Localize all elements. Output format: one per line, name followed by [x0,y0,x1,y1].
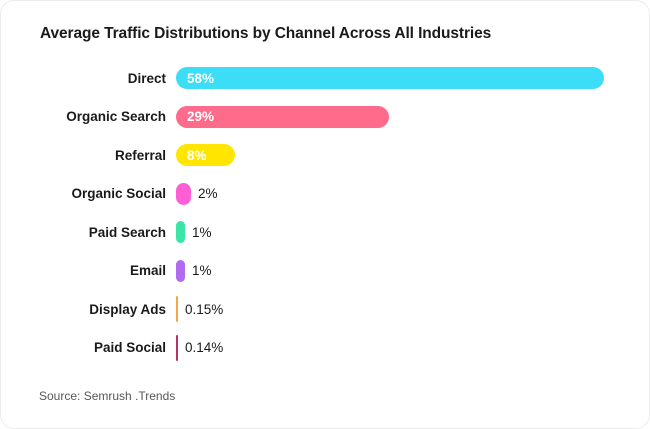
bar-category-label: Paid Social [1,340,176,355]
bar-organic-social[interactable] [176,183,191,205]
bar-value-label: 1% [192,225,212,240]
bar-track: 1% [176,252,650,291]
bar-chart-plot: Direct58%Organic Search29%Referral8%Orga… [1,59,650,367]
bar-category-label: Organic Social [1,186,176,201]
bar-row: Email1% [1,252,650,291]
bar-category-label: Display Ads [1,302,176,317]
bar-row: Paid Search1% [1,213,650,252]
bar-value-label: 2% [198,186,218,201]
bar-paid-search[interactable] [176,221,185,243]
chart-source-note: Source: Semrush .Trends [39,389,175,403]
bar-track: 29% [176,98,650,137]
chart-card: Average Traffic Distributions by Channel… [0,0,650,429]
bar-value-label: 1% [192,263,212,278]
bar-category-label: Direct [1,71,176,86]
bar-value-label: 29% [176,109,214,124]
bar-display-ads[interactable] [176,296,178,322]
bar-row: Display Ads0.15% [1,290,650,329]
bar-value-label: 58% [176,71,214,86]
bar-organic-search[interactable]: 29% [176,106,389,128]
bar-value-label: 0.15% [185,302,223,317]
bar-track: 0.15% [176,290,650,329]
bar-category-label: Email [1,263,176,278]
bar-referral[interactable]: 8% [176,144,235,166]
bar-value-label: 0.14% [185,340,223,355]
bar-track: 0.14% [176,329,650,368]
bar-paid-social[interactable] [176,335,178,361]
bar-row: Organic Social2% [1,175,650,214]
bar-row: Organic Search29% [1,98,650,137]
bar-row: Paid Social0.14% [1,329,650,368]
bar-email[interactable] [176,260,185,282]
bar-category-label: Referral [1,148,176,163]
chart-title: Average Traffic Distributions by Channel… [40,25,491,43]
bar-direct[interactable]: 58% [176,67,604,89]
bar-track: 58% [176,59,650,98]
bar-row: Direct58% [1,59,650,98]
bar-category-label: Organic Search [1,109,176,124]
bar-track: 8% [176,136,650,175]
bar-row: Referral8% [1,136,650,175]
bar-track: 2% [176,175,650,214]
bar-track: 1% [176,213,650,252]
bar-category-label: Paid Search [1,225,176,240]
bar-value-label: 8% [176,148,207,163]
